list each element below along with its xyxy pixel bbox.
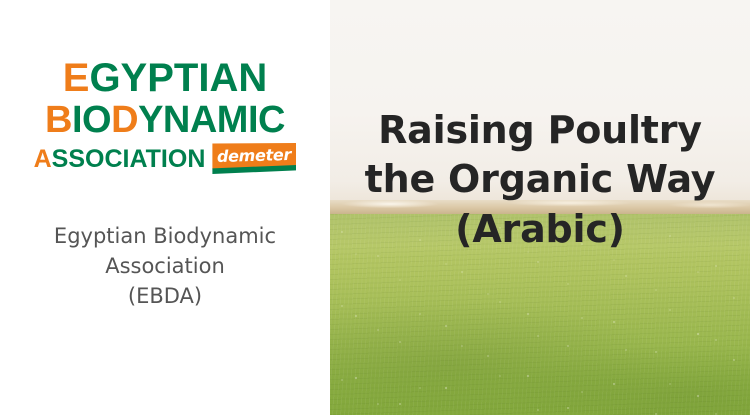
- logo-letter-a: A: [34, 145, 52, 173]
- egyptian-biodynamic-association-logo[interactable]: EGYPTIAN BIODYNAMIC ASSOCIATION demeter: [0, 58, 330, 172]
- logo-line-biodynamic: BIODYNAMIC: [45, 101, 285, 139]
- left-info-panel: EGYPTIAN BIODYNAMIC ASSOCIATION demeter …: [0, 0, 330, 415]
- caption-line-2: Association: [18, 252, 312, 282]
- media-card: EGYPTIAN BIODYNAMIC ASSOCIATION demeter …: [0, 0, 750, 415]
- organization-caption: Egyptian Biodynamic Association (EBDA): [18, 222, 312, 311]
- logo-text-ssociation: SSOCIATION: [52, 145, 206, 173]
- caption-line-1: Egyptian Biodynamic: [18, 222, 312, 252]
- demeter-badge-label: demeter: [212, 142, 297, 170]
- logo-line-egyptian: EGYPTIAN: [63, 58, 267, 98]
- logo-letter-e: E: [63, 56, 90, 100]
- headline-line-3: (Arabic): [336, 205, 744, 254]
- demeter-certification-badge[interactable]: demeter: [212, 143, 296, 174]
- logo-letter-d: D: [111, 99, 138, 141]
- logo-association-word: ASSOCIATION: [34, 147, 206, 172]
- logo-text-ynamic: YNAMIC: [138, 99, 285, 141]
- hero-headline: Raising Poultry the Organic Way (Arabic): [336, 106, 744, 254]
- logo-text-gyptian: GYPTIAN: [89, 56, 267, 100]
- right-hero-panel: Raising Poultry the Organic Way (Arabic): [330, 0, 750, 415]
- logo-line-association: ASSOCIATION demeter: [34, 143, 297, 172]
- headline-line-1: Raising Poultry: [336, 106, 744, 155]
- caption-line-3: (EBDA): [18, 282, 312, 312]
- logo-text-io: IO: [72, 99, 111, 141]
- logo-letter-b: B: [45, 99, 72, 141]
- headline-line-2: the Organic Way: [336, 155, 744, 204]
